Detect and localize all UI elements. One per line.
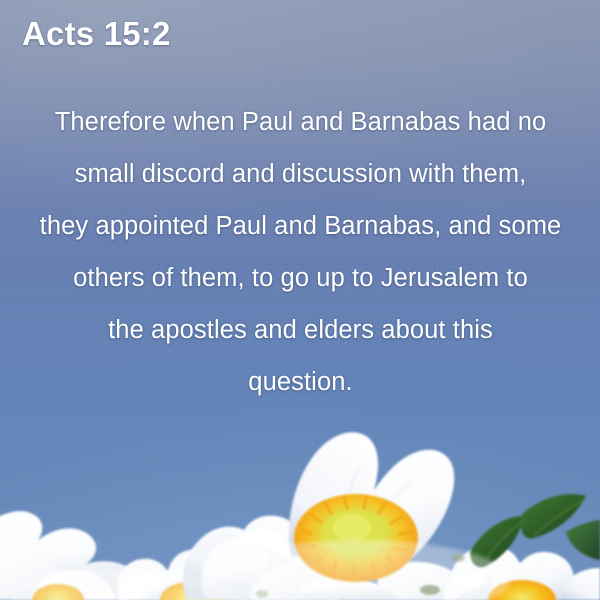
verse-line: small discord and discussion with them,: [38, 148, 563, 200]
verse-image-canvas: Acts 15:2 Therefore when Paul and Barnab…: [0, 0, 600, 600]
verse-line: others of them, to go up to Jerusalem to: [38, 252, 563, 304]
verse-text-block: Therefore when Paul and Barnabas had no …: [38, 96, 563, 408]
verse-line: they appointed Paul and Barnabas, and so…: [38, 200, 563, 252]
flower-photo-foreground: [0, 410, 600, 600]
verse-reference-title: Acts 15:2: [22, 14, 171, 54]
verse-line: Therefore when Paul and Barnabas had no: [38, 96, 563, 148]
verse-line: the apostles and elders about this: [38, 304, 563, 356]
verse-line: question.: [38, 356, 563, 408]
